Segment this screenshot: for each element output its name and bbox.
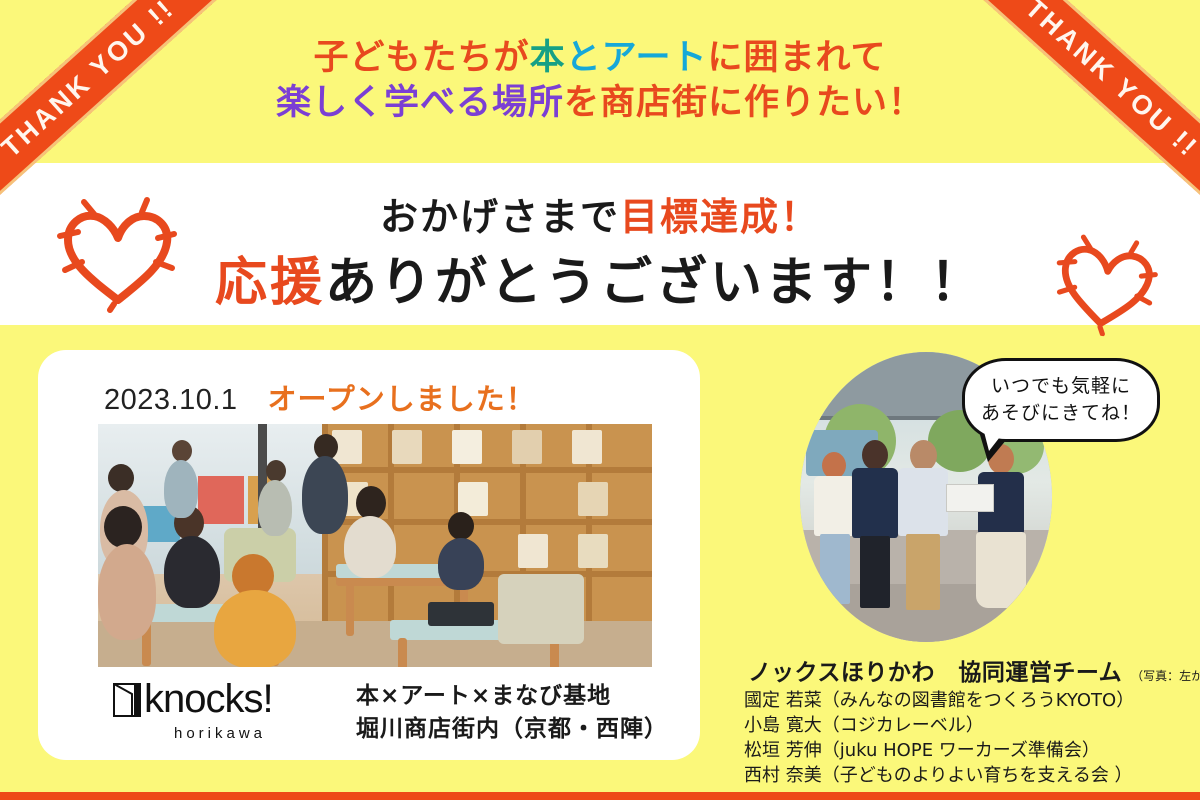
photo-equipment-box [428, 602, 494, 626]
photo-book [572, 430, 602, 464]
team-photo-note: （写真：左から） [1131, 667, 1200, 684]
card-tagline: 本×アート×まなび基地 堀川商店街内（京都・西陣） [356, 680, 668, 746]
shop-interior-photo [98, 424, 652, 667]
photo-table-leg [346, 584, 354, 636]
photo-table-leg [398, 638, 407, 667]
photo-person-body [302, 456, 348, 534]
team-title-row: ノックスほりかわ 協同運営チーム （写真：左から） [748, 653, 1200, 687]
goal-achieved-prefix: おかげさまで [380, 195, 620, 239]
team-member-entry: 松垣 芳伸（juku HOPE ワーカーズ準備会） [744, 738, 1134, 763]
headline-seg-shotengai: 商店街に作りたい！ [600, 83, 924, 123]
headline-seg-to: と [566, 38, 602, 78]
member-skirt [976, 532, 1026, 608]
speech-bubble-tail-fill [982, 424, 1010, 451]
goal-achieved-highlight: 目標達成！ [620, 195, 820, 239]
open-date: 2023.10.1 [104, 384, 238, 417]
photo-poster-red [198, 476, 244, 524]
bottom-accent-strip [0, 792, 1200, 800]
campaign-headline: 子どもたちが本とアートに囲まれて 楽しく学べる場所を商店街に作りたい！ [0, 36, 1200, 126]
photo-book [392, 430, 422, 464]
headline-line-1: 子どもたちが本とアートに囲まれて [0, 36, 1200, 81]
photo-person-body [214, 590, 296, 667]
member-torso [852, 468, 898, 538]
thank-you-highlight: 応援 [215, 253, 325, 313]
headline-seg-kodomotachiga: 子どもたちが [314, 38, 530, 78]
member-legs [860, 536, 890, 608]
photo-book [512, 430, 542, 464]
member-head [822, 452, 846, 479]
thank-you-rest: ありがとうございます！！ [325, 253, 985, 313]
photo-person-body [258, 480, 292, 536]
held-sign [946, 484, 994, 512]
photo-person-head [448, 512, 474, 540]
open-announcement-card: 2023.10.1 オープンしました！ [38, 350, 700, 760]
heart-icon [52, 192, 184, 314]
member-legs [820, 534, 850, 604]
team-member-entry: 小島 寛大（コジカレーベル） [744, 713, 1134, 738]
team-member-entry: 國定 若菜（みんなの図書館をつくろうKYOTO） [744, 688, 1134, 713]
team-member-list: 國定 若菜（みんなの図書館をつくろうKYOTO） 小島 寛大（コジカレーベル） … [744, 688, 1134, 788]
tagline-line-1: 本×アート×まなび基地 [356, 680, 668, 713]
headline-line-2: 楽しく学べる場所を商店街に作りたい！ [0, 81, 1200, 126]
photo-book [578, 482, 608, 516]
logo-row: knocks! [112, 680, 302, 718]
team-title: ノックスほりかわ 協同運営チーム [748, 653, 1122, 687]
headline-seg-tanoshiku: 楽しく学べる場所 [276, 83, 564, 123]
headline-seg-art: アート [602, 38, 708, 78]
member-head [910, 440, 937, 471]
photo-person-head [266, 460, 286, 482]
member-legs [906, 534, 940, 610]
headline-seg-nikakomarete: に囲まれて [708, 38, 887, 78]
photo-person-body [164, 536, 220, 608]
photo-person-body [344, 516, 396, 578]
open-door-icon [112, 680, 142, 718]
tagline-line-2: 堀川商店街内（京都・西陣） [356, 713, 668, 746]
member-torso [898, 468, 948, 536]
member-torso [814, 476, 856, 536]
photo-person-head [172, 440, 192, 462]
heart-sparkle-right [1050, 232, 1162, 341]
member-head [862, 440, 888, 470]
heart-sparkle-left [52, 192, 184, 319]
photo-book [518, 534, 548, 568]
photo-person-head [108, 464, 134, 492]
photo-person-body [98, 544, 156, 640]
photo-person-body [438, 538, 484, 590]
photo-book [452, 430, 482, 464]
knocks-logo: knocks! horikawa [112, 680, 302, 742]
speech-bubble-line-1: いつでも気軽に [991, 373, 1131, 400]
photo-person-head [104, 506, 142, 548]
poster-canvas: 子どもたちが本とアートに囲まれて 楽しく学べる場所を商店街に作りたい！ おかげさ… [0, 0, 1200, 800]
logo-sublabel: horikawa [112, 725, 302, 742]
photo-book [578, 534, 608, 568]
open-label: オープンしました！ [268, 376, 536, 418]
photo-person-head [356, 486, 386, 520]
headline-seg-hon: 本 [530, 38, 566, 78]
logo-wordmark: knocks! [144, 680, 273, 718]
open-date-row: 2023.10.1 オープンしました！ [104, 376, 536, 418]
speech-bubble-line-2: あそびにきてね！ [981, 400, 1141, 427]
headline-seg-wo: を [564, 83, 600, 123]
photo-book [458, 482, 488, 516]
photo-person-body [164, 460, 198, 518]
photo-bench [498, 574, 584, 644]
team-member-entry: 西村 奈美（子どものよりよい育ちを支える会 ） [744, 763, 1134, 788]
heart-icon [1043, 225, 1168, 344]
